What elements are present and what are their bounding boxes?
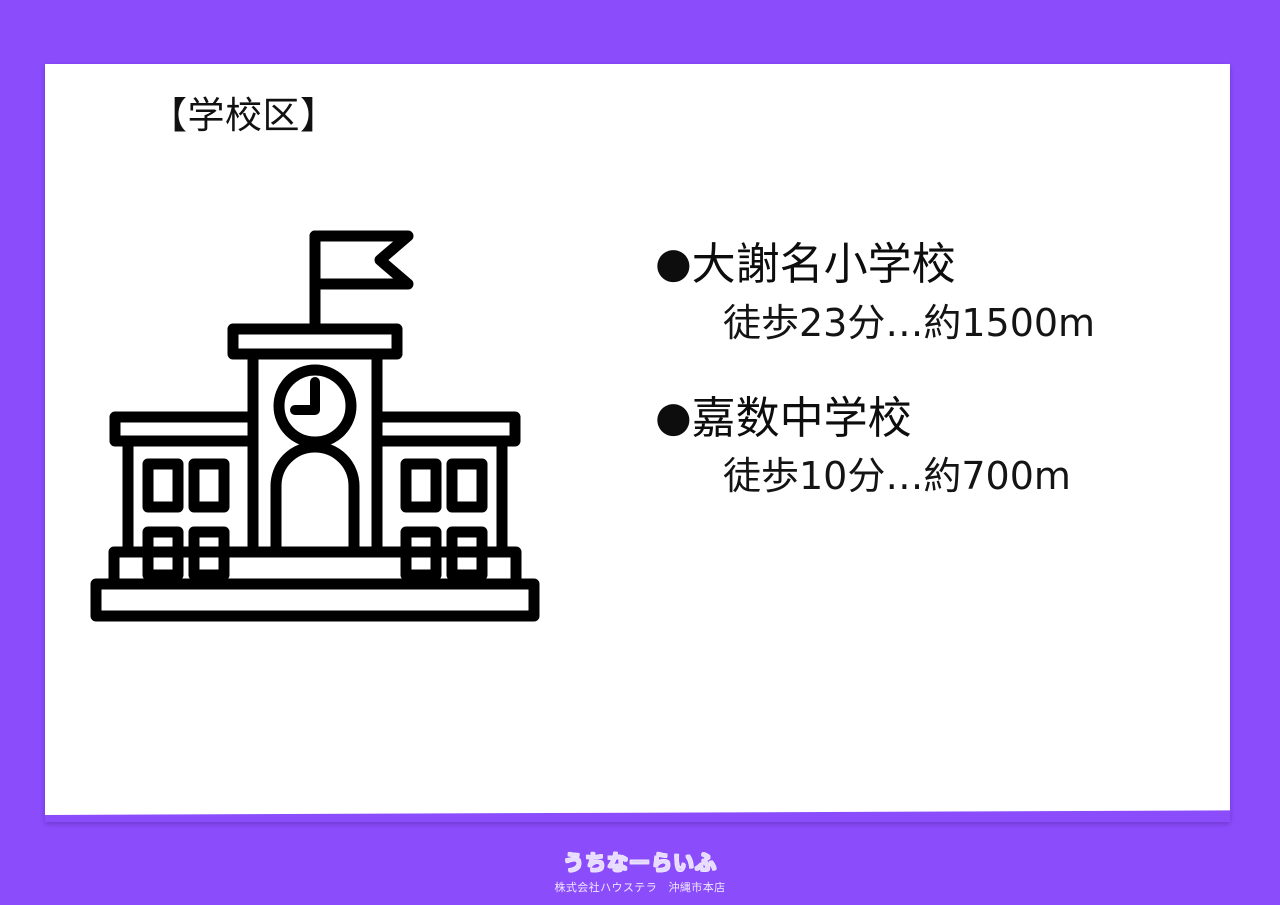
list-item: ●大謝名小学校 徒歩23分…約1500m [655, 239, 1195, 347]
school-name-row: ●嘉数中学校 [655, 393, 1195, 445]
school-name: 大謝名小学校 [692, 239, 956, 290]
page-title: 【学校区】 [150, 94, 338, 138]
slide-card: 【学校区】 [45, 64, 1230, 822]
slide-stage: 【学校区】 [0, 0, 1280, 905]
school-name-row: ●大謝名小学校 [655, 239, 1195, 291]
school-name: 嘉数中学校 [692, 393, 912, 444]
list-item: ●嘉数中学校 徒歩10分…約700m [655, 393, 1195, 501]
company-name: 株式会社ハウステラ 沖縄市本店 [0, 879, 1280, 895]
brand-logo: うちなーらいふ [0, 847, 1280, 877]
school-building-icon [90, 214, 560, 684]
school-distance: 徒歩23分…約1500m [655, 301, 1195, 347]
bullet-icon: ● [655, 238, 692, 287]
footer: うちなーらいふ 株式会社ハウステラ 沖縄市本店 [0, 847, 1280, 895]
school-distance: 徒歩10分…約700m [655, 454, 1195, 500]
bullet-icon: ● [655, 392, 692, 441]
school-list: ●大謝名小学校 徒歩23分…約1500m ●嘉数中学校 徒歩10分…約700m [655, 239, 1195, 500]
